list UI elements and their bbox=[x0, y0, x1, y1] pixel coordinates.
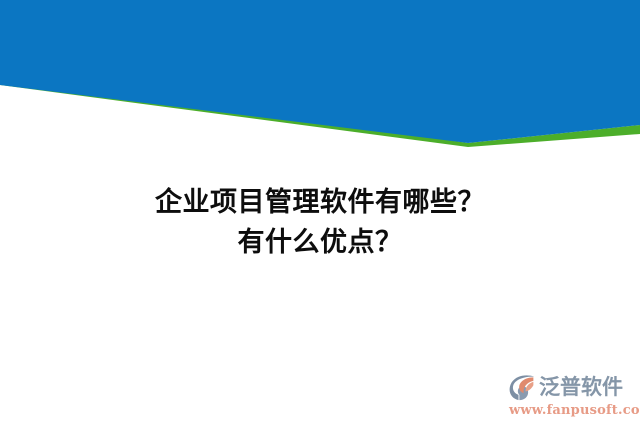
slide-canvas: 企业项目管理软件有哪些？ 有什么优点？ 泛普软件 www.fanpusoft.c… bbox=[0, 0, 640, 427]
decorative-header-banner bbox=[0, 0, 640, 160]
brand-logo: 泛普软件 www.fanpusoft.com bbox=[508, 372, 636, 422]
page-title-line-2: 有什么优点？ bbox=[0, 223, 640, 263]
page-title-line-1: 企业项目管理软件有哪些？ bbox=[0, 183, 640, 223]
brand-logo-row: 泛普软件 bbox=[508, 372, 636, 402]
brand-url: www.fanpusoft.com bbox=[509, 403, 636, 418]
brand-wordmark: 泛普软件 bbox=[539, 373, 623, 401]
fanpu-spiral-logo-icon bbox=[508, 373, 536, 401]
banner-blue-shape bbox=[0, 0, 640, 143]
page-title: 企业项目管理软件有哪些？ 有什么优点？ bbox=[0, 183, 640, 263]
